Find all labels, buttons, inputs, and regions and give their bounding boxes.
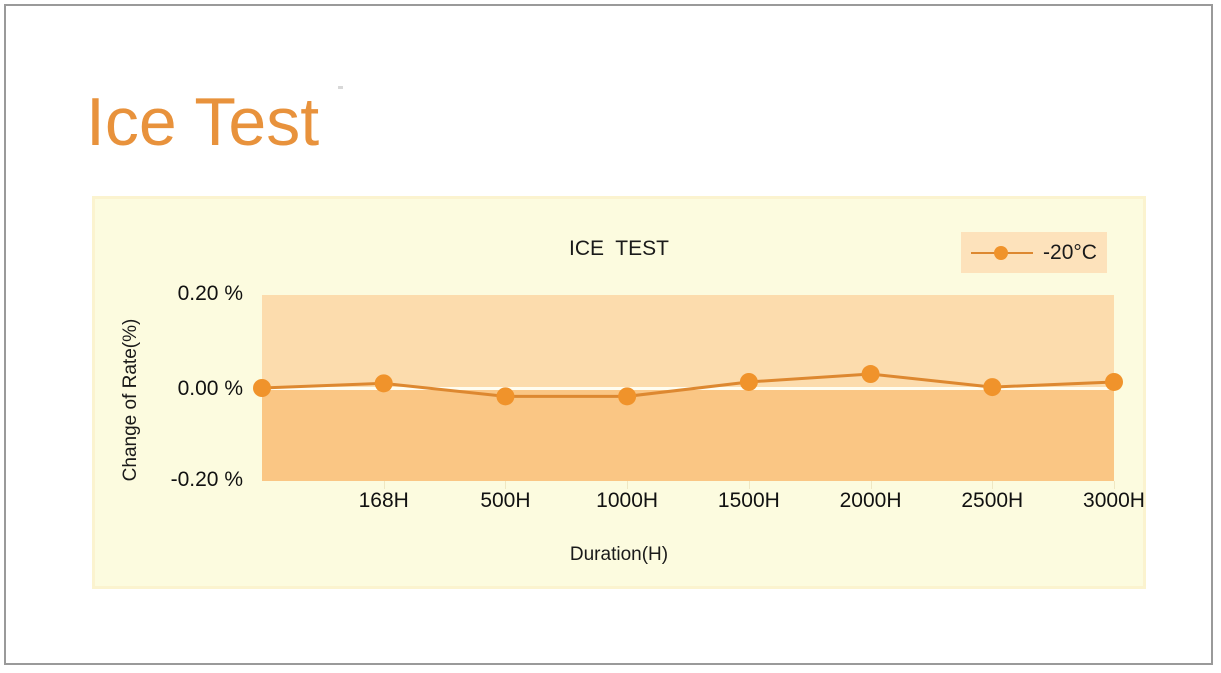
data-point [375, 374, 393, 392]
x-tick-label-7: 3000H [1083, 489, 1145, 513]
series-line-chart [262, 295, 1114, 481]
x-tick-mark-4 [749, 481, 750, 489]
slide: Ice Test ICE TEST -20°C Change of Rate(%… [4, 4, 1213, 665]
legend-marker-icon [971, 246, 1033, 260]
y-tick-label-1: 0.00 % [83, 377, 243, 401]
x-tick-label-3: 1000H [596, 489, 658, 513]
data-point [1105, 373, 1123, 391]
x-tick-mark-7 [1114, 481, 1115, 489]
chart-legend: -20°C [961, 232, 1107, 273]
data-point [496, 387, 514, 405]
y-tick-label-0: 0.20 % [83, 282, 243, 306]
data-point [983, 378, 1001, 396]
chart-container: ICE TEST -20°C Change of Rate(%) Duratio… [92, 196, 1146, 589]
decorative-speck [338, 86, 343, 89]
x-tick-mark-6 [992, 481, 993, 489]
page-title: Ice Test [86, 82, 319, 162]
x-tick-mark-1 [384, 481, 385, 489]
x-tick-mark-5 [871, 481, 872, 489]
chart-inner: ICE TEST -20°C Change of Rate(%) Duratio… [95, 199, 1143, 586]
data-point [740, 373, 758, 391]
x-axis-title: Duration(H) [95, 544, 1143, 566]
x-tick-label-5: 2000H [840, 489, 902, 513]
data-point [618, 387, 636, 405]
legend-label-0: -20°C [1043, 241, 1097, 265]
x-tick-mark-2 [505, 481, 506, 489]
plot-area: 168H500H1000H1500H2000H2500H3000H [262, 295, 1114, 481]
x-tick-label-1: 168H [359, 489, 409, 513]
x-tick-label-6: 2500H [961, 489, 1023, 513]
x-tick-label-2: 500H [480, 489, 530, 513]
x-tick-label-4: 1500H [718, 489, 780, 513]
y-tick-label-2: -0.20 % [83, 468, 243, 492]
data-point [253, 379, 271, 397]
x-tick-mark-3 [627, 481, 628, 489]
data-point [862, 365, 880, 383]
legend-dot [994, 246, 1008, 260]
